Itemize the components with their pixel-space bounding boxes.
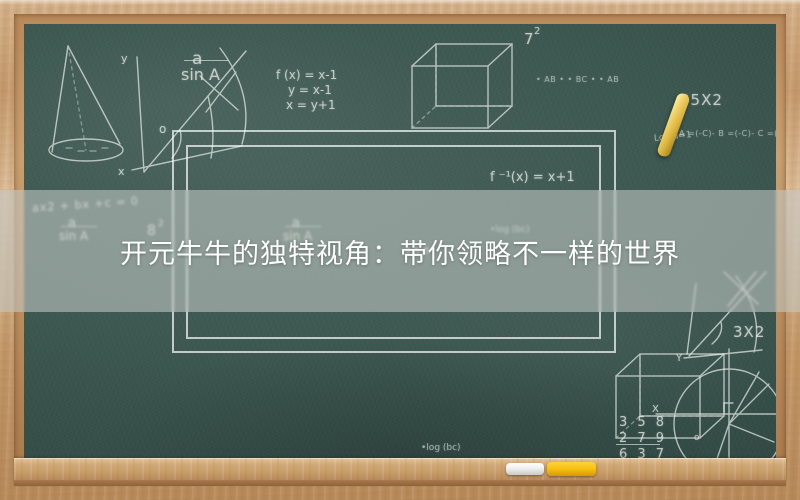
page-title: 开元牛牛的独特视角：带你领略不一样的世界	[120, 232, 680, 271]
chalk-function-line-3: x = y+1	[286, 98, 336, 112]
chalk-left-angle-o: o	[159, 122, 166, 136]
frame-top-highlight	[0, 0, 800, 5]
screenshot-canvas: a sin A y x o ax2 + bx +c = 0 f (x) = x-…	[0, 0, 800, 500]
chalk-product-3x2: 3X2	[733, 323, 765, 341]
chalk-axis-y-right: Y	[676, 353, 682, 364]
title-overlay-band: 开元牛牛的独特视角：带你领略不一样的世界	[0, 190, 800, 312]
tray-front-lip	[14, 480, 786, 486]
chalk-add-row-1: 3 5 8	[619, 415, 667, 430]
chalk-function-line-1: f (x) = x-1	[276, 68, 337, 82]
chalk-set-notation-row: A =(-C)- B =(-C)- C =(-C)-	[679, 129, 776, 138]
chalk-axis-x-right: X	[652, 404, 659, 415]
chalk-log-bc-bottom: •log (bc)	[421, 443, 461, 453]
chalk-angle-o-right: o	[694, 433, 700, 443]
chalk-segment-notation: • AB • • BC • • AB	[536, 75, 619, 84]
chalk-left-fraction-bar	[184, 60, 228, 61]
chalk-left-fraction-den: sin A	[181, 65, 220, 84]
chalk-white-tray	[506, 463, 544, 475]
chalk-seven-base: 7	[524, 30, 534, 48]
chalk-add-bar	[616, 444, 660, 445]
chalk-seven-exponent: 2	[534, 26, 540, 37]
chalk-left-axis-x: x	[118, 165, 125, 178]
chalk-yellow-tray	[547, 462, 596, 476]
chalk-function-line-2: y = x-1	[288, 83, 332, 97]
chalk-left-axis-y: y	[121, 52, 128, 65]
chalk-tray	[14, 458, 786, 486]
